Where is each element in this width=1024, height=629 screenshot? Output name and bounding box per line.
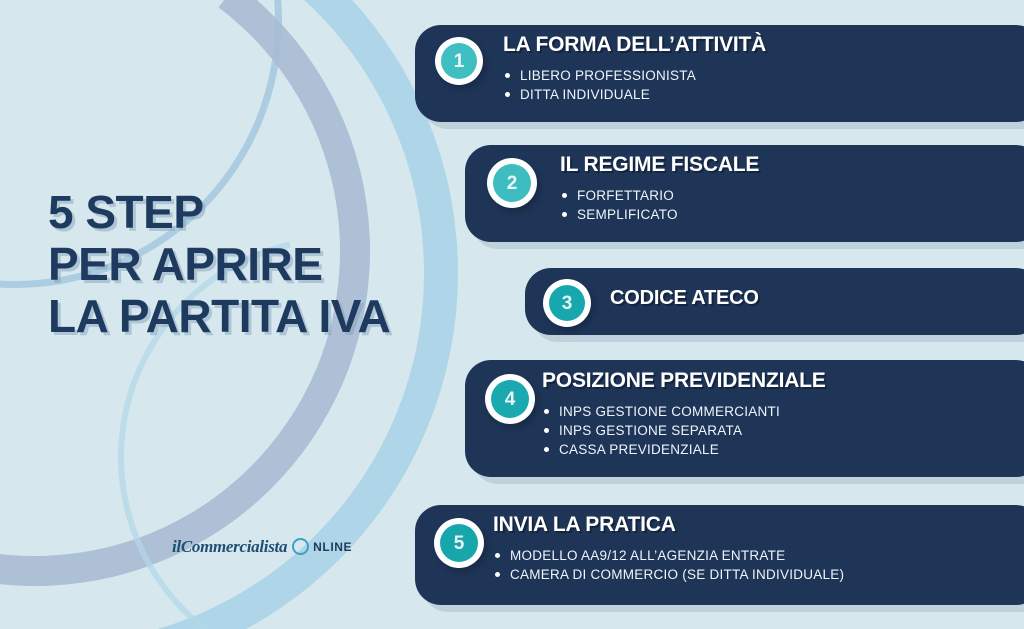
list-item-label: DITTA INDIVIDUALE	[520, 87, 650, 102]
step-card-4[interactable]: 4 POSIZIONE PREVIDENZIALE INPS GESTIONE …	[465, 360, 1024, 477]
step-number-badge-1: 1	[435, 37, 483, 85]
step-number-badge-5: 5	[434, 518, 484, 568]
step-list-2: FORFETTARIO SEMPLIFICATO	[560, 186, 759, 224]
headline-line-2: PER APRIRE	[48, 238, 448, 290]
list-item-label: CAMERA DI COMMERCIO (SE DITTA INDIVIDUAL…	[510, 567, 844, 582]
step-number-5: 5	[440, 524, 478, 562]
list-item: INPS GESTIONE SEPARATA	[542, 421, 826, 440]
logo-script-word: ilCommercialista	[172, 538, 287, 555]
step-card-3[interactable]: 3 CODICE ATECO	[525, 268, 1024, 335]
bullet-icon	[505, 73, 510, 78]
list-item-label: LIBERO PROFESSIONISTA	[520, 68, 696, 83]
list-item-label: SEMPLIFICATO	[577, 207, 678, 222]
list-item-label: INPS GESTIONE SEPARATA	[559, 423, 742, 438]
bullet-icon	[562, 193, 567, 198]
step-title-2: IL REGIME FISCALE	[560, 153, 759, 177]
bullet-icon	[495, 572, 500, 577]
bullet-icon	[505, 92, 510, 97]
step-body-1: LA FORMA DELL’ATTIVITÀ LIBERO PROFESSION…	[503, 33, 766, 104]
list-item: CAMERA DI COMMERCIO (SE DITTA INDIVIDUAL…	[493, 565, 844, 584]
list-item: MODELLO AA9/12 ALL’AGENZIA ENTRATE	[493, 546, 844, 565]
step-card-5[interactable]: 5 INVIA LA PRATICA MODELLO AA9/12 ALL’AG…	[415, 505, 1024, 605]
list-item-label: CASSA PREVIDENZIALE	[559, 442, 719, 457]
list-item: LIBERO PROFESSIONISTA	[503, 66, 766, 85]
step-number-1: 1	[441, 43, 477, 79]
bullet-icon	[544, 447, 549, 452]
step-number-badge-3: 3	[543, 279, 591, 327]
list-item-label: FORFETTARIO	[577, 188, 674, 203]
bullet-icon	[544, 428, 549, 433]
bullet-icon	[562, 212, 567, 217]
step-body-5: INVIA LA PRATICA MODELLO AA9/12 ALL’AGEN…	[493, 513, 844, 584]
step-title-4: POSIZIONE PREVIDENZIALE	[542, 369, 826, 393]
step-card-2[interactable]: 2 IL REGIME FISCALE FORFETTARIO SEMPLIFI…	[465, 145, 1024, 242]
step-list-5: MODELLO AA9/12 ALL’AGENZIA ENTRATE CAMER…	[493, 546, 844, 584]
step-title-3: CODICE ATECO	[610, 287, 759, 310]
step-body-2: IL REGIME FISCALE FORFETTARIO SEMPLIFICA…	[560, 153, 759, 224]
circle-ring-icon	[292, 538, 309, 555]
step-list-4: INPS GESTIONE COMMERCIANTI INPS GESTIONE…	[542, 402, 826, 459]
step-body-4: POSIZIONE PREVIDENZIALE INPS GESTIONE CO…	[542, 369, 826, 459]
logo-online-word: NLINE	[313, 541, 352, 553]
step-title-1: LA FORMA DELL’ATTIVITÀ	[503, 33, 766, 57]
headline-line-3: LA PARTITA IVA	[48, 290, 448, 342]
list-item: FORFETTARIO	[560, 186, 759, 205]
step-number-2: 2	[493, 164, 531, 202]
step-list-1: LIBERO PROFESSIONISTA DITTA INDIVIDUALE	[503, 66, 766, 104]
brand-logo: ilCommercialista NLINE	[172, 538, 352, 555]
list-item: SEMPLIFICATO	[560, 205, 759, 224]
list-item-label: MODELLO AA9/12 ALL’AGENZIA ENTRATE	[510, 548, 785, 563]
step-number-badge-4: 4	[485, 374, 535, 424]
list-item-label: INPS GESTIONE COMMERCIANTI	[559, 404, 780, 419]
step-number-badge-2: 2	[487, 158, 537, 208]
page-title: 5 STEP PER APRIRE LA PARTITA IVA	[48, 186, 448, 342]
step-number-3: 3	[549, 285, 585, 321]
bullet-icon	[495, 553, 500, 558]
list-item: DITTA INDIVIDUALE	[503, 85, 766, 104]
infographic-canvas: 5 STEP PER APRIRE LA PARTITA IVA ilComme…	[0, 0, 1024, 629]
list-item: INPS GESTIONE COMMERCIANTI	[542, 402, 826, 421]
headline-line-1: 5 STEP	[48, 186, 448, 238]
step-number-4: 4	[491, 380, 529, 418]
bullet-icon	[544, 409, 549, 414]
step-body-3: CODICE ATECO	[610, 287, 759, 310]
step-title-5: INVIA LA PRATICA	[493, 513, 844, 537]
step-card-1[interactable]: 1 LA FORMA DELL’ATTIVITÀ LIBERO PROFESSI…	[415, 25, 1024, 122]
list-item: CASSA PREVIDENZIALE	[542, 440, 826, 459]
